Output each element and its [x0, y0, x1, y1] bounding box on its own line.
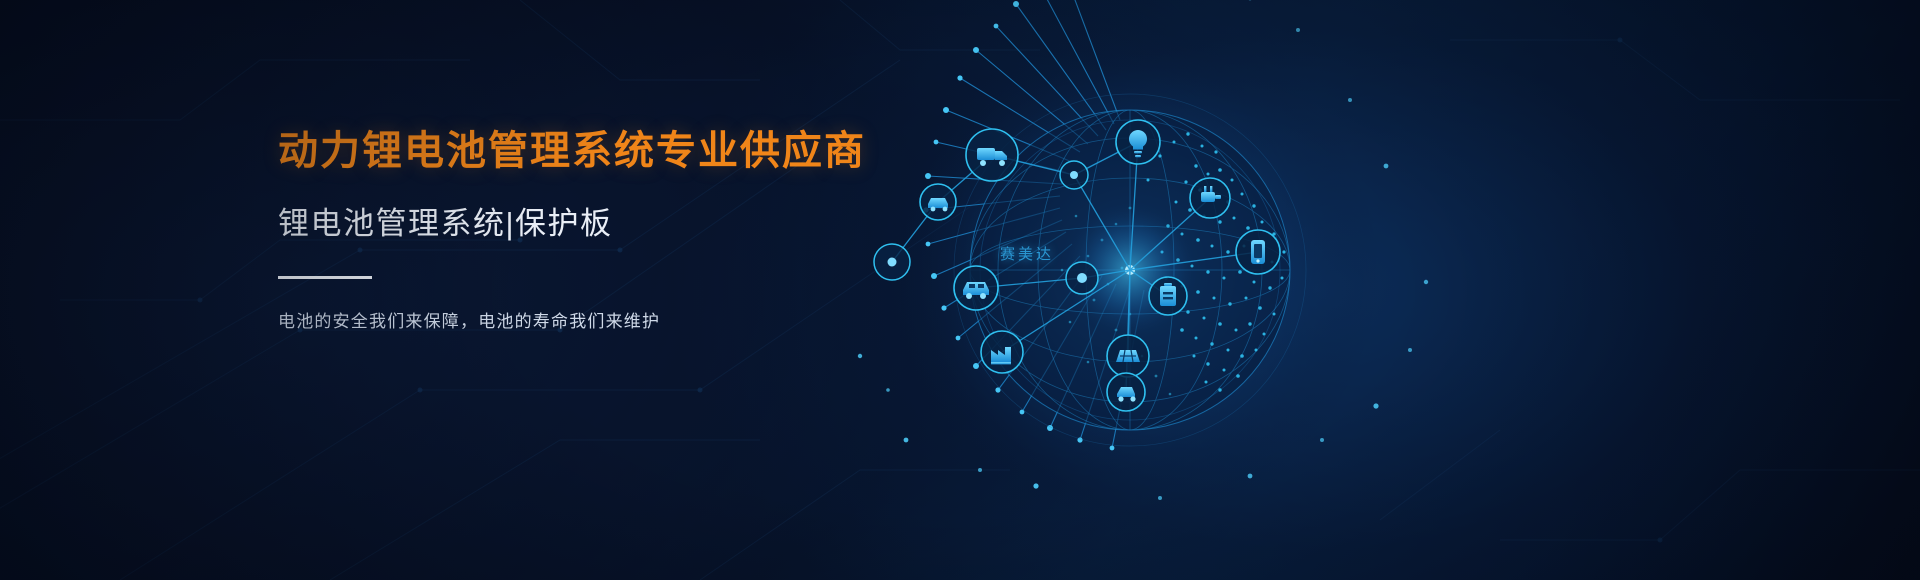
node-ring-icon[interactable] [1060, 161, 1088, 189]
hub-ring-icon[interactable] [1066, 262, 1098, 294]
globe-svg [830, 0, 1510, 580]
factory-icon[interactable] [981, 331, 1023, 373]
lightbulb-icon[interactable] [1116, 120, 1160, 164]
globe-network-graphic [830, 0, 1510, 580]
truck-icon[interactable] [966, 129, 1018, 181]
divider-rule [278, 276, 372, 279]
plug-icon[interactable] [1190, 178, 1230, 218]
car-icon[interactable] [920, 184, 956, 220]
solar-icon[interactable] [1107, 335, 1149, 377]
vehicle-icon[interactable] [954, 266, 998, 310]
battery-icon[interactable] [1149, 277, 1187, 315]
phone-icon[interactable] [1236, 230, 1280, 274]
scooter-icon[interactable] [1107, 373, 1145, 411]
hero-banner: 动力锂电池管理系统专业供应商 锂电池管理系统|保护板 电池的安全我们来保障，电池… [0, 0, 1920, 580]
small-node-icon[interactable] [874, 244, 910, 280]
